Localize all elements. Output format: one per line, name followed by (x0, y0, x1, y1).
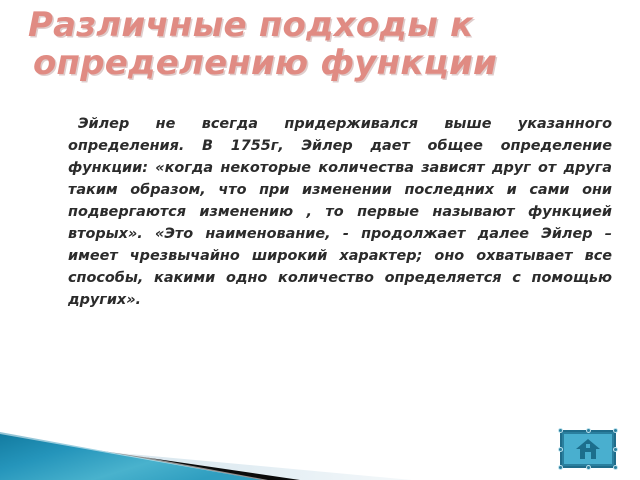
home-button[interactable] (560, 430, 616, 468)
body-text-block: Эйлер не всегда придерживался выше указа… (68, 113, 612, 311)
home-button-inner (564, 434, 612, 464)
page-title: Различные подходы к определению функции (28, 6, 608, 82)
page-title-line-1: Различные подходы к (28, 6, 608, 44)
page-title-line-2: определению функции (33, 44, 608, 82)
decorative-band (0, 370, 640, 480)
selection-handle-middle-left[interactable] (558, 447, 563, 452)
selection-handle-bottom-left[interactable] (558, 465, 563, 470)
home-icon-svg (575, 438, 601, 460)
selection-handle-top-left[interactable] (558, 428, 563, 433)
decorative-band-svg (0, 370, 640, 480)
home-icon (575, 438, 601, 460)
selection-handle-top-right[interactable] (613, 428, 618, 433)
selection-handle-bottom-right[interactable] (613, 465, 618, 470)
selection-handle-middle-right[interactable] (613, 447, 618, 452)
body-paragraph: Эйлер не всегда придерживался выше указа… (68, 113, 612, 311)
selection-handle-top-middle[interactable] (586, 428, 591, 433)
slide: Различные подходы к определению функции … (0, 0, 640, 480)
selection-handle-bottom-middle[interactable] (586, 465, 591, 470)
